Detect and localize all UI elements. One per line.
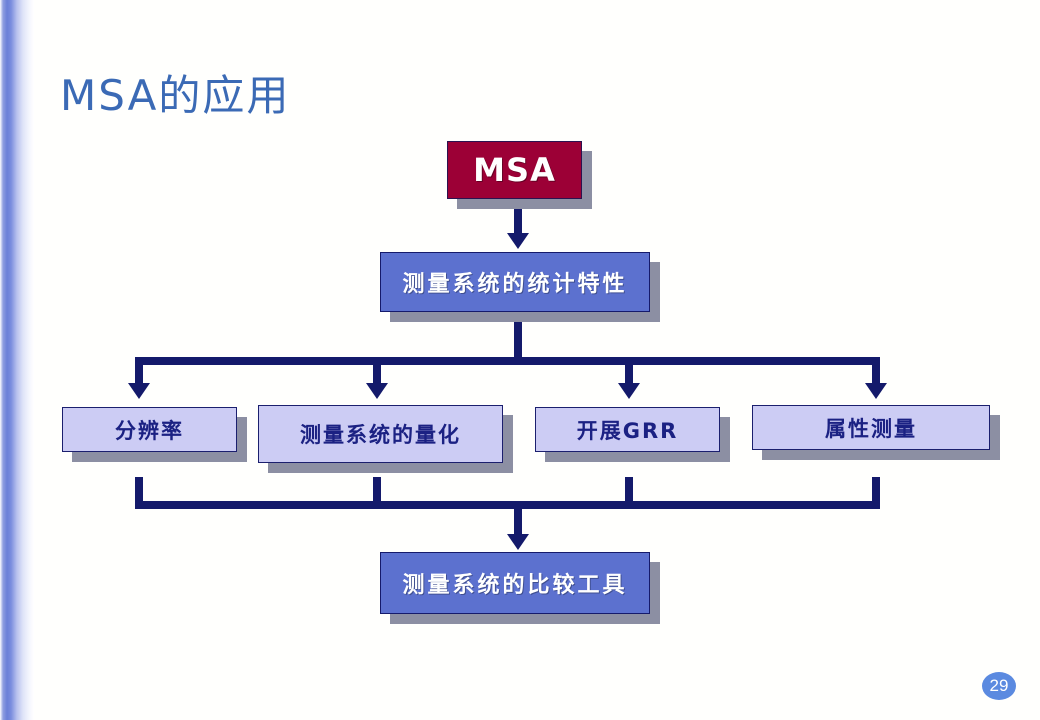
flow-node-statistical-properties-label: 测量系统的统计特性: [402, 266, 627, 298]
connector-merge-bar: [135, 501, 880, 509]
flow-node-msa-label: MSA: [473, 151, 556, 189]
connector-distribution-bar: [135, 357, 880, 365]
arrowhead-to-resolution: [128, 383, 150, 399]
flow-node-quantification-label: 测量系统的量化: [300, 419, 461, 449]
connector-drop-quantification: [373, 357, 381, 385]
flow-node-comparison-tools[interactable]: 测量系统的比较工具: [380, 552, 650, 614]
connector-drop-grr: [625, 357, 633, 385]
left-accent-stripe: [0, 0, 34, 720]
flow-node-attribute[interactable]: 属性测量: [752, 405, 990, 450]
flow-node-statistical-properties[interactable]: 测量系统的统计特性: [380, 252, 650, 312]
flow-node-grr[interactable]: 开展GRR: [535, 407, 720, 452]
connector-trunk-to-comparison-tools: [514, 501, 522, 537]
connector-drop-resolution: [135, 357, 143, 385]
arrowhead-to-attribute: [865, 383, 887, 399]
flow-node-msa[interactable]: MSA: [447, 141, 582, 199]
arrowhead-to-quantification: [366, 383, 388, 399]
page-number-badge: 29: [982, 672, 1016, 700]
flow-node-resolution[interactable]: 分辨率: [62, 407, 237, 452]
arrowhead-to-statistical-properties: [507, 233, 529, 249]
flow-node-resolution-label: 分辨率: [115, 415, 184, 445]
flow-node-grr-label: 开展GRR: [577, 415, 679, 445]
flow-node-quantification[interactable]: 测量系统的量化: [258, 405, 503, 463]
arrowhead-to-grr: [618, 383, 640, 399]
flow-node-comparison-tools-label: 测量系统的比较工具: [402, 567, 627, 599]
flow-node-attribute-label: 属性测量: [825, 413, 917, 443]
arrowhead-to-comparison-tools: [507, 534, 529, 550]
connector-drop-attribute: [872, 357, 880, 385]
slide-canvas: MSA的应用 MSA 测量系统的统计特性 分辨率 测量系统的量化 开: [0, 0, 1040, 720]
page-title: MSA的应用: [60, 72, 290, 120]
